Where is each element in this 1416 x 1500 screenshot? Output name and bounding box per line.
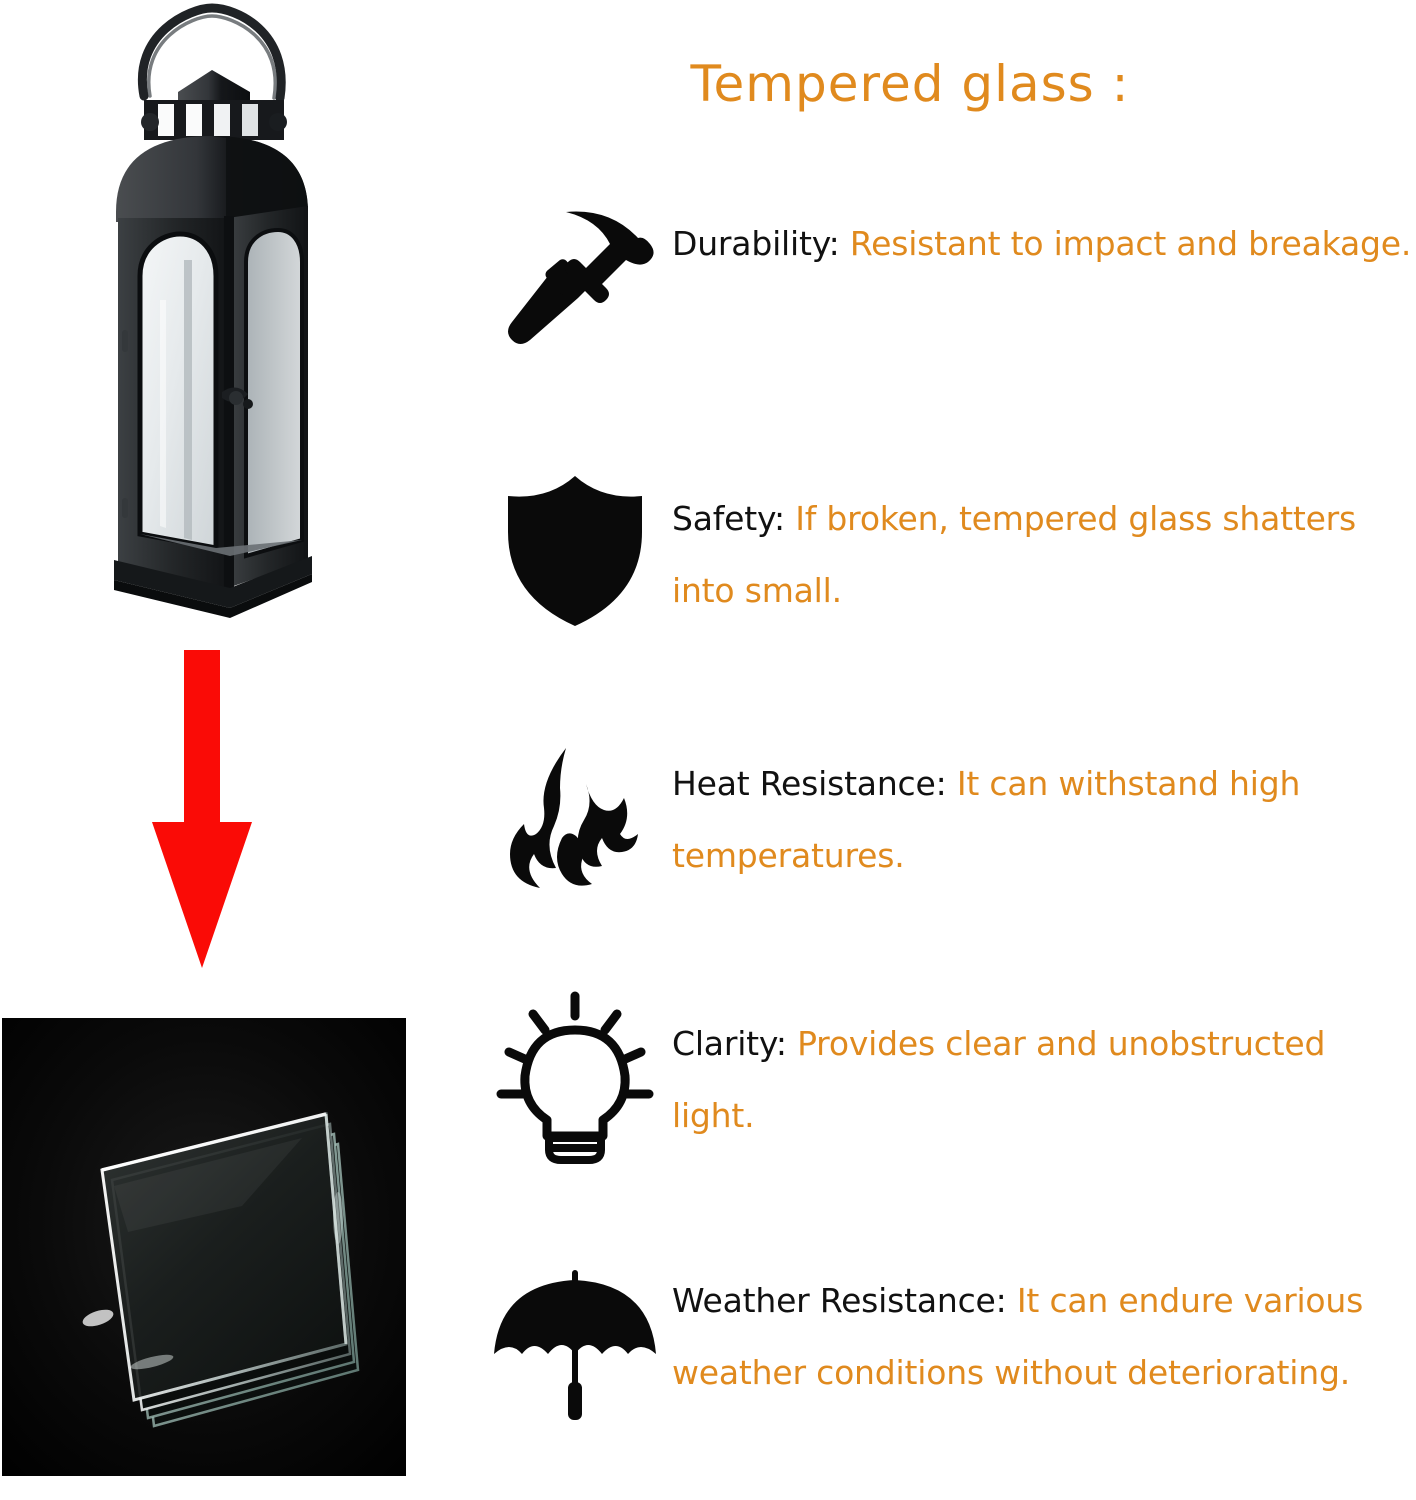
shield-icon <box>490 465 660 635</box>
feature-value-durability: Resistant to impact and breakage. <box>850 224 1411 263</box>
umbrella-icon <box>490 1259 660 1429</box>
feature-label-safety: Safety: <box>672 499 785 538</box>
features-column: Tempered glass : Durability: Resistant t… <box>440 0 1416 1500</box>
flame-icon <box>490 732 660 902</box>
product-image-column <box>0 0 440 1500</box>
infographic-page: Tempered glass : Durability: Resistant t… <box>0 0 1416 1500</box>
feature-text-durability: Durability: Resistant to impact and brea… <box>672 208 1416 280</box>
feature-text-heat-resistance: Heat Resistance: It can withstand high t… <box>672 748 1416 892</box>
feature-text-weather-resistance: Weather Resistance: It can endure variou… <box>672 1265 1416 1409</box>
hammer-icon <box>490 192 660 362</box>
feature-label-weather-resistance: Weather Resistance: <box>672 1281 1007 1320</box>
feature-label-durability: Durability: <box>672 224 840 263</box>
page-title: Tempered glass : <box>440 55 1380 113</box>
red-down-arrow-icon <box>128 650 276 968</box>
feature-label-heat-resistance: Heat Resistance: <box>672 764 947 803</box>
feature-label-clarity: Clarity: <box>672 1024 787 1063</box>
lightbulb-icon <box>490 992 660 1162</box>
black-metal-lantern-photo <box>40 0 380 640</box>
feature-text-clarity: Clarity: Provides clear and unobstructed… <box>672 1008 1416 1152</box>
tempered-glass-panels-photo <box>2 1018 406 1476</box>
feature-text-safety: Safety: If broken, tempered glass shatte… <box>672 483 1416 627</box>
